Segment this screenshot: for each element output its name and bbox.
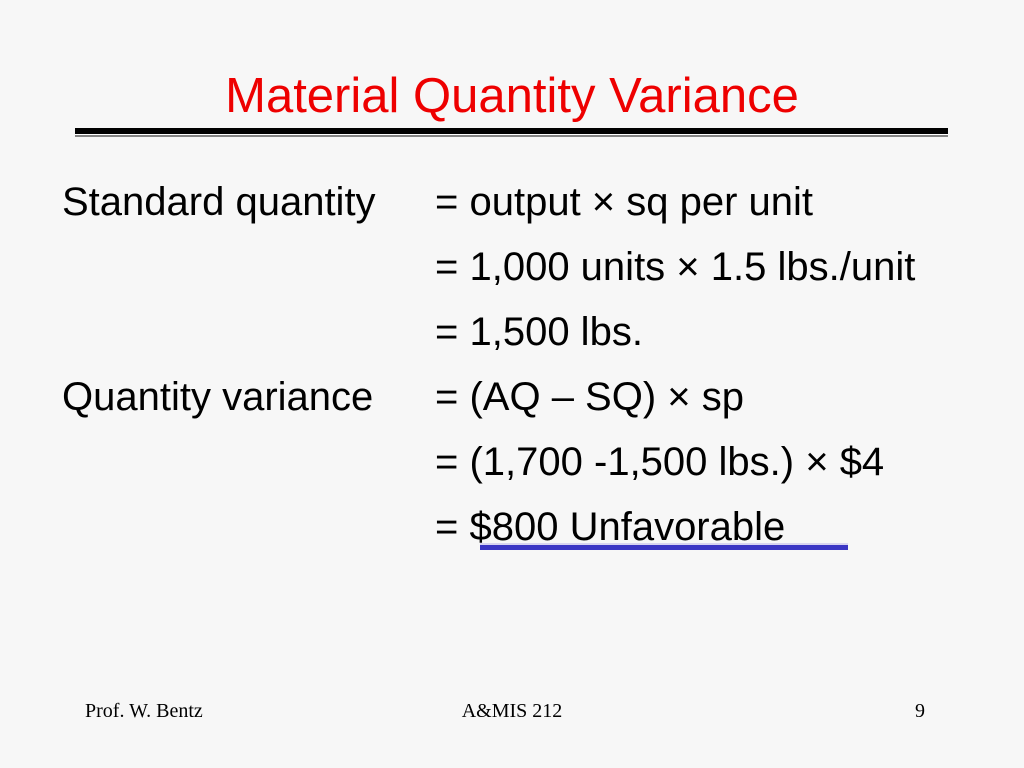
- divider-shadow-bar: [75, 135, 948, 137]
- formula-row: Standard quantity = output × sq per unit: [62, 170, 1002, 235]
- footer-course: A&MIS 212: [0, 700, 1024, 723]
- formula-expression: = output × sq per unit: [435, 170, 1002, 235]
- slide-canvas: Material Quantity Variance Standard quan…: [0, 0, 1024, 768]
- formula-expression: = (1,700 -1,500 lbs.) × $4: [435, 430, 1002, 495]
- formula-row: = 1,500 lbs.: [62, 300, 1002, 365]
- formula-expression: = 1,000 units × 1.5 lbs./unit: [435, 235, 1002, 300]
- formula-label: Standard quantity: [62, 170, 435, 235]
- formula-label: Quantity variance: [62, 365, 435, 430]
- formula-row-result: = $800 Unfavorable: [62, 495, 1002, 560]
- footer-page-number: 9: [880, 700, 960, 723]
- formula-expression: = 1,500 lbs.: [435, 300, 1002, 365]
- formula-expression: = (AQ – SQ) × sp: [435, 365, 1002, 430]
- title-divider: [75, 128, 948, 137]
- formula-row: = 1,000 units × 1.5 lbs./unit: [62, 235, 1002, 300]
- formula-result-expression: = $800 Unfavorable: [435, 495, 1002, 560]
- result-underline-bar: [480, 545, 848, 550]
- formula-block: Standard quantity = output × sq per unit…: [62, 170, 1002, 560]
- result-underline: [480, 543, 848, 550]
- slide-footer: Prof. W. Bentz A&MIS 212 9: [0, 700, 1024, 730]
- formula-row: Quantity variance = (AQ – SQ) × sp: [62, 365, 1002, 430]
- formula-row: = (1,700 -1,500 lbs.) × $4: [62, 430, 1002, 495]
- page-title: Material Quantity Variance: [75, 67, 949, 125]
